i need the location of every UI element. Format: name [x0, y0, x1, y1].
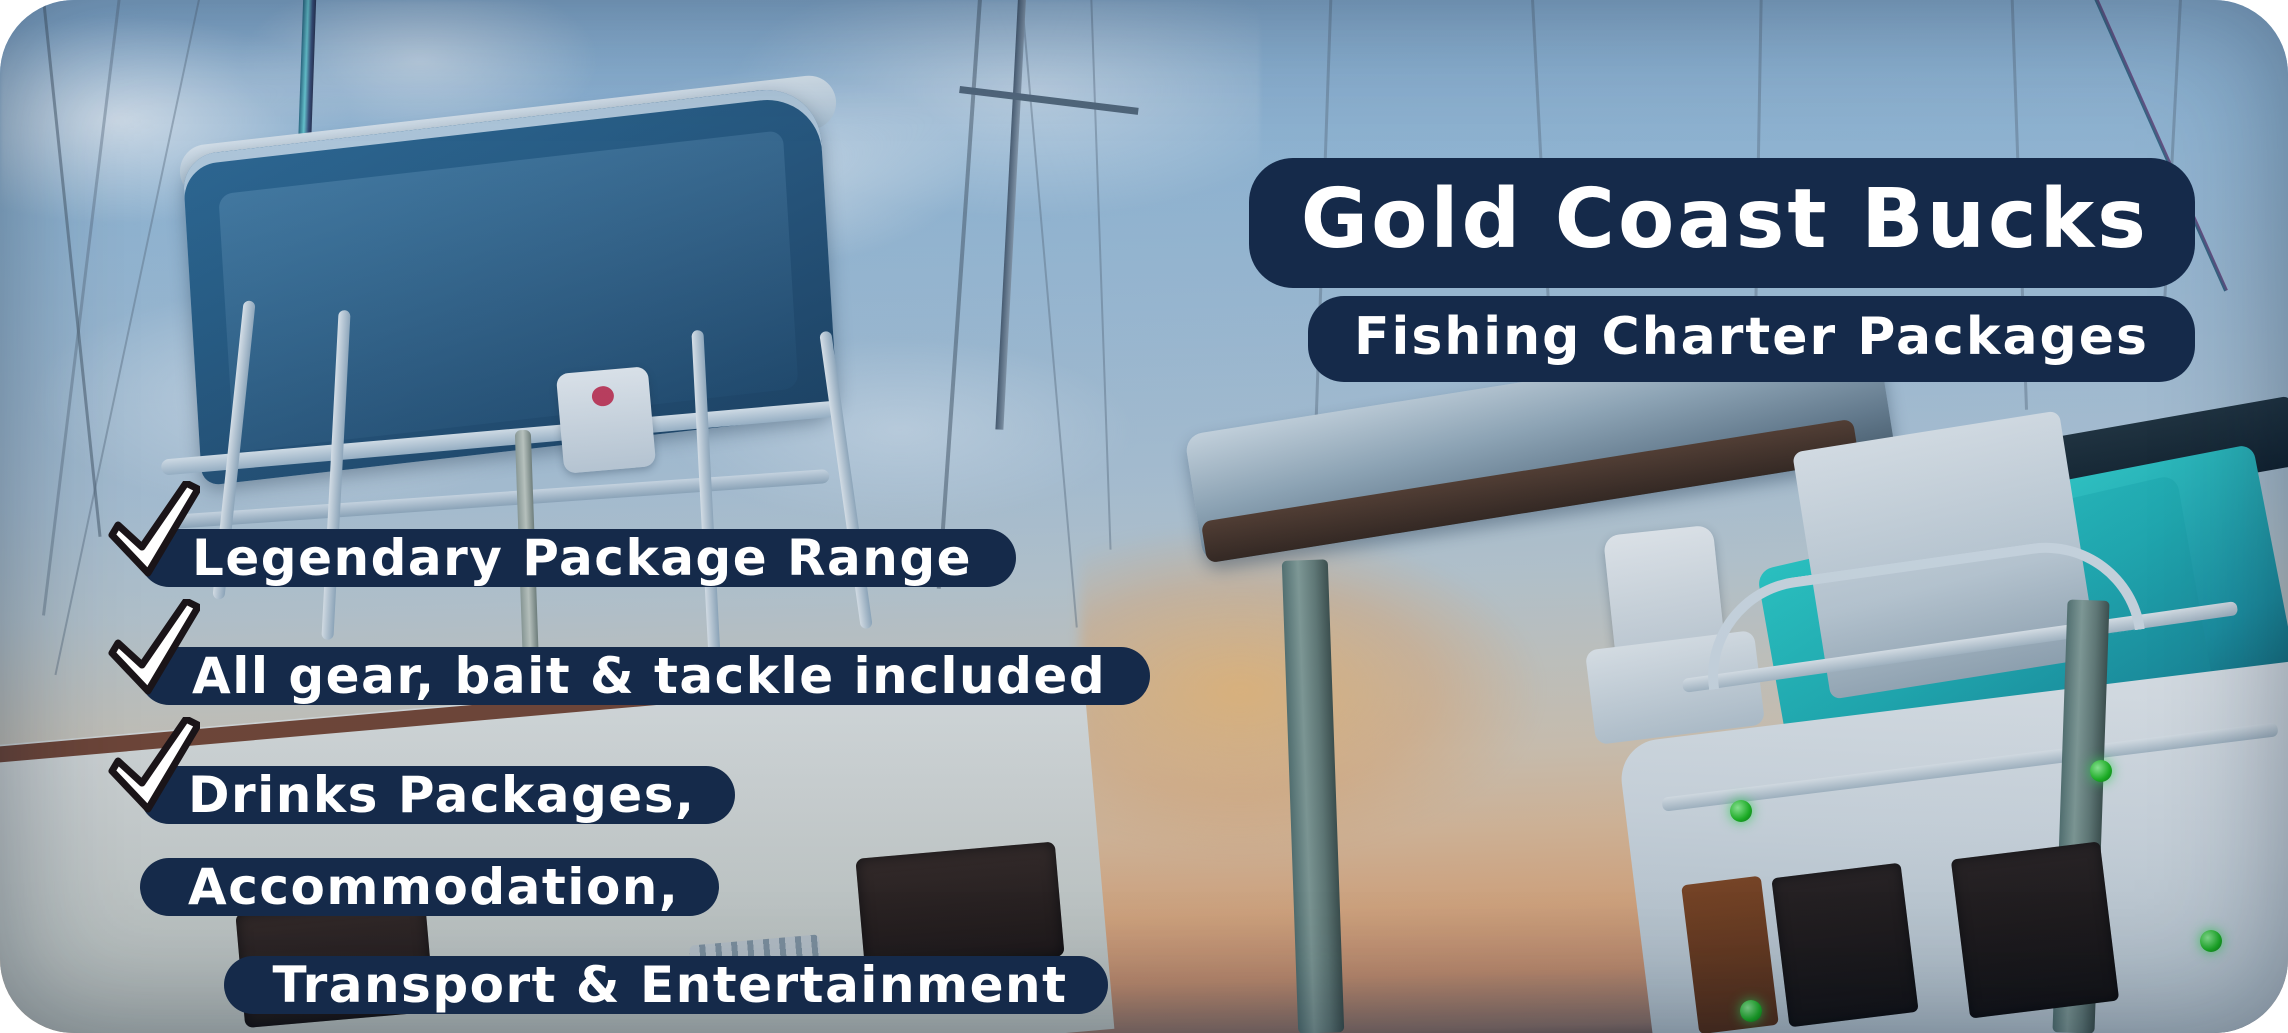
title-block: Gold Coast Bucks Fishing Charter Package… — [1195, 158, 2195, 382]
list-item-label-line2: Transport & Entertainment Options — [224, 956, 1107, 1033]
list-item-label: Legendary Package Range — [140, 529, 1016, 587]
list-item: All gear, bait & tackle included — [140, 631, 1200, 721]
list-item-label-line1: Drinks Packages, Accommodation, — [140, 766, 735, 916]
list-item: Drinks Packages, Accommodation, Transpor… — [140, 749, 1192, 1033]
page-title: Gold Coast Bucks — [1249, 158, 2195, 288]
feature-list: Legendary Package Range All gear, bait &… — [140, 513, 1200, 1033]
list-item: Legendary Package Range — [140, 513, 1200, 603]
page-subtitle: Fishing Charter Packages — [1308, 296, 2195, 382]
promo-banner: Gold Coast Bucks Fishing Charter Package… — [0, 0, 2288, 1033]
list-item-label: All gear, bait & tackle included — [140, 647, 1150, 705]
